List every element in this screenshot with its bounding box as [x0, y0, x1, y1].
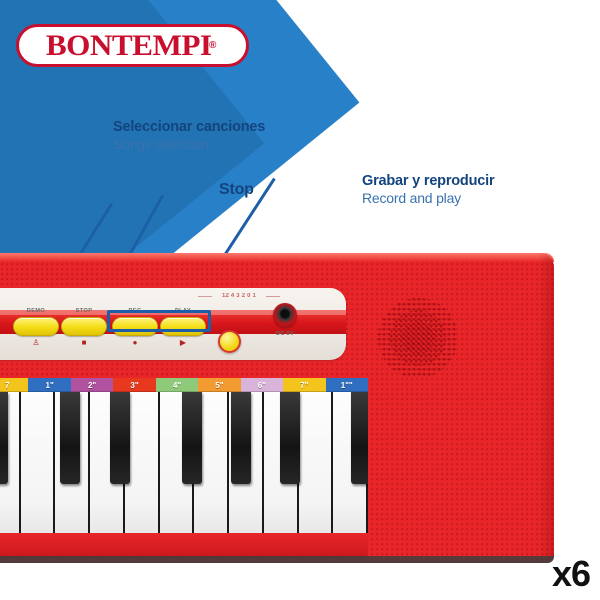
quantity-badge: x6	[552, 556, 590, 592]
key-label-3hi: 3"	[113, 378, 155, 392]
callout-record-play: Grabar y reproducir Record and play	[362, 172, 494, 208]
brand-logo-text: BONTEMPI	[45, 31, 211, 61]
record-play-highlight-box	[107, 310, 211, 332]
keyboard-top-highlight	[0, 253, 554, 262]
panel-marking: 12 4 3 2 0 1	[214, 293, 264, 299]
play-triangle-icon: ▶	[157, 339, 209, 347]
black-key[interactable]	[182, 392, 202, 484]
brand-logo: BONTEMPI®	[16, 24, 249, 67]
volume-knob[interactable]	[218, 330, 241, 353]
callout-songs-es: Seleccionar canciones	[113, 118, 265, 136]
key-label-1hi2: 1""	[326, 378, 368, 392]
stop-button[interactable]	[61, 317, 107, 336]
callout-stop-es: Stop	[219, 180, 254, 200]
key-label-6hi: 6"	[241, 378, 283, 392]
callout-songs-en: Songs selection	[113, 136, 265, 154]
black-key[interactable]	[60, 392, 80, 484]
key-color-strip: 7 1" 2" 3" 4" 5" 6" 7" 1""	[0, 378, 368, 392]
speaker-grille	[372, 292, 464, 384]
key-label-7: 7	[0, 378, 28, 392]
callout-record-es: Grabar y reproducir	[362, 172, 494, 190]
black-key[interactable]	[0, 392, 8, 484]
demo-person-icon: ♙	[10, 339, 62, 347]
demo-button[interactable]	[13, 317, 59, 336]
product-image-canvas: BONTEMPI® Seleccionar canciones Songs se…	[0, 0, 600, 600]
key-label-7hi: 7"	[283, 378, 325, 392]
dc-power-jack[interactable]	[273, 303, 297, 327]
black-key[interactable]	[231, 392, 251, 484]
key-label-5hi: 5"	[198, 378, 240, 392]
stop-square-icon: ■	[58, 339, 110, 347]
callout-songs-selection: Seleccionar canciones Songs selection	[113, 118, 265, 154]
callout-record-en: Record and play	[362, 190, 494, 208]
keyboard-base-shadow	[0, 556, 554, 563]
white-key[interactable]	[299, 392, 334, 547]
callout-stop: Stop	[219, 180, 254, 200]
white-key[interactable]	[21, 392, 56, 547]
key-label-4hi: 4"	[156, 378, 198, 392]
demo-button-label: DEMO	[10, 308, 62, 314]
key-label-2hi: 2"	[71, 378, 113, 392]
black-key[interactable]	[110, 392, 130, 484]
black-key[interactable]	[280, 392, 300, 484]
stop-button-label: STOP	[58, 308, 110, 314]
key-label-1hi: 1"	[28, 378, 70, 392]
record-circle-icon: ●	[109, 339, 161, 347]
dc-power-jack-label: DC 5V	[272, 331, 298, 337]
black-key[interactable]	[351, 392, 368, 484]
keyboard-right-edge	[538, 253, 554, 563]
white-key[interactable]	[125, 392, 160, 547]
